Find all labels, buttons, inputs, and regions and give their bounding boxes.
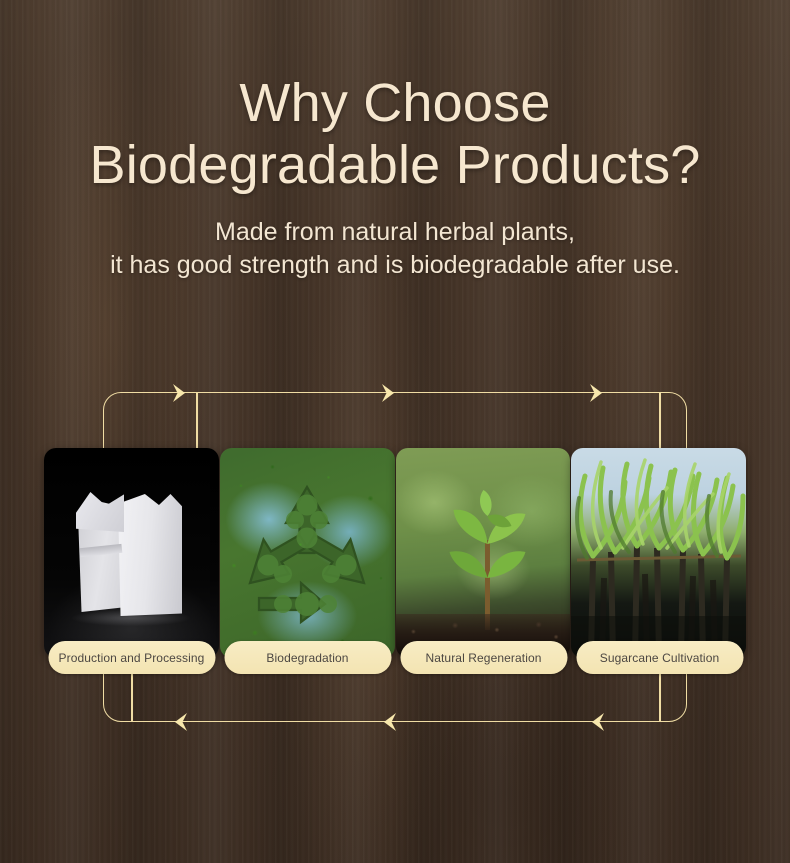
chevron-right-icon-3 xyxy=(585,381,609,405)
headline-block: Why Choose Biodegradable Products? Made … xyxy=(0,72,790,282)
card-label-regeneration[interactable]: Natural Regeneration xyxy=(400,641,567,674)
page-title-line-1: Why Choose xyxy=(0,72,790,134)
chevron-right-icon-1 xyxy=(168,381,192,405)
card-label-text: Biodegradation xyxy=(266,651,348,665)
paper-box-icon xyxy=(44,448,219,658)
card-label-text: Natural Regeneration xyxy=(425,651,541,665)
card-label-text: Production and Processing xyxy=(59,651,205,665)
chevron-left-icon-1 xyxy=(168,710,192,734)
recycle-icon xyxy=(220,448,395,658)
card-label-production[interactable]: Production and Processing xyxy=(48,641,215,674)
process-card-regeneration[interactable] xyxy=(396,448,571,658)
process-card-biodegradation[interactable] xyxy=(220,448,395,658)
seedling-icon xyxy=(396,448,571,658)
connector-stub-top-left xyxy=(196,393,198,448)
page-title-line-2: Biodegradable Products? xyxy=(0,134,790,196)
subtitle-line-2: it has good strength and is biodegradabl… xyxy=(0,249,790,282)
chevron-left-icon-3 xyxy=(585,710,609,734)
process-card-row xyxy=(44,448,746,658)
card-label-text: Sugarcane Cultivation xyxy=(600,651,720,665)
card-label-sugarcane[interactable]: Sugarcane Cultivation xyxy=(576,641,743,674)
process-card-production[interactable] xyxy=(44,448,219,658)
sugarcane-icon xyxy=(571,448,746,658)
promo-banner: Why Choose Biodegradable Products? Made … xyxy=(0,0,790,863)
connector-stub-top-right xyxy=(659,393,661,448)
chevron-left-icon-2 xyxy=(377,710,401,734)
process-card-sugarcane[interactable] xyxy=(571,448,746,658)
subtitle-line-1: Made from natural herbal plants, xyxy=(0,216,790,249)
chevron-right-icon-2 xyxy=(377,381,401,405)
card-label-biodegradation[interactable]: Biodegradation xyxy=(224,641,391,674)
